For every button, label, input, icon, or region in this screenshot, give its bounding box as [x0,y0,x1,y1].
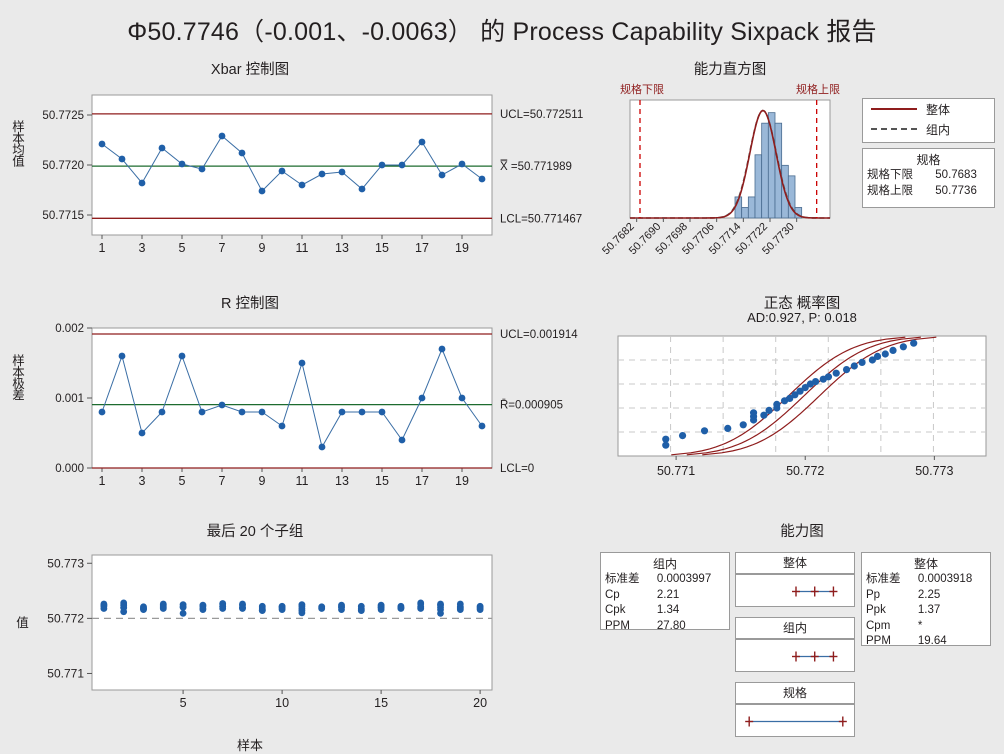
overall-sd-value: 0.0003918 [914,572,990,588]
table-row: Pp2.25 [862,588,990,604]
capability-histogram-title: 能力直方图 [600,58,860,79]
svg-text:9: 9 [259,241,266,255]
svg-text:5: 5 [179,241,186,255]
svg-text:17: 17 [415,241,429,255]
svg-text:11: 11 [296,241,309,255]
svg-text:20: 20 [473,696,487,710]
table-row: 标准差0.0003997 [601,572,729,588]
svg-text:15: 15 [374,696,388,710]
ppk-label: Ppk [862,603,914,619]
table-row: PPM19.64 [862,634,990,650]
svg-text:50.771: 50.771 [47,666,84,680]
svg-text:7: 7 [219,474,226,488]
spec-lsl-value: 50.7683 [931,168,994,184]
svg-text:3: 3 [139,474,146,488]
cpm-label: Cpm [862,619,914,635]
svg-text:1: 1 [99,241,106,255]
svg-text:50.7715: 50.7715 [42,210,84,222]
histogram-legend: 整体 组内 [862,98,995,143]
cpm-value: * [914,619,990,635]
within-ppm-label: PPM [601,619,653,635]
svg-text:0.000: 0.000 [55,463,84,475]
ppk-value: 1.37 [914,603,990,619]
capability-band-label: 整体 [783,556,807,570]
svg-text:0.001: 0.001 [55,393,84,405]
table-row: Cp2.21 [601,588,729,604]
svg-text:X̿ =50.771989: X̿ =50.771989 [500,160,572,173]
capability-histogram-panel: 能力直方图 规格下限 规格上限 50.768250.769050.769850.… [600,58,1004,283]
svg-text:50.7725: 50.7725 [42,110,84,122]
cp-value: 2.21 [653,588,729,604]
svg-text:1: 1 [99,474,106,488]
xbar-chart-panel: Xbar 控制图 样本均值 50.772550.772050.771513579… [0,58,600,273]
table-row: Ppk1.37 [862,603,990,619]
legend-label-within: 组内 [926,121,950,138]
overall-sd-label: 标准差 [862,572,914,588]
capability-band-label: 规格 [783,686,807,700]
spec-table: 规格 规格下限 50.7683 规格上限 50.7736 [862,148,995,208]
svg-text:5: 5 [179,474,186,488]
capability-histogram-plot: 50.768250.769050.769850.770650.771450.77… [600,94,860,269]
overall-table-header: 整体 [862,553,990,572]
within-table-header: 组内 [601,553,729,572]
svg-text:50.773: 50.773 [47,556,84,570]
svg-text:UCL=0.001914: UCL=0.001914 [500,329,578,341]
legend-label-overall: 整体 [926,101,950,118]
cpk-value: 1.34 [653,603,729,619]
spec-lsl-label: 规格下限 [863,168,931,184]
spec-table-header: 规格 [863,149,994,168]
svg-text:UCL=50.772511: UCL=50.772511 [500,109,583,121]
overall-ppm-label: PPM [862,634,914,650]
within-sd-value: 0.0003997 [653,572,729,588]
within-ppm-value: 27.80 [653,619,729,635]
svg-text:5: 5 [180,696,187,710]
pp-label: Pp [862,588,914,604]
overall-stats-table: 整体 标准差0.0003918 Pp2.25 Ppk1.37 Cpm* PPM1… [861,552,991,646]
capability-plot-panel: 能力图 组内 标准差0.0003997 Cp2.21 Cpk1.34 PPM27… [600,520,1004,751]
xbar-chart-plot: 50.772550.772050.7715135791113151719UCL=… [0,83,600,283]
overall-ppm-value: 19.64 [914,634,990,650]
table-row: 规格下限 50.7683 [863,168,994,184]
capability-bands: 整体组内规格 [735,552,855,747]
last20-chart-plot: 50.77350.77250.7715101520 [0,545,600,730]
svg-text:LCL=0: LCL=0 [500,463,534,475]
r-chart-panel: R 控制图 样本极差 0.0020.0010.00013579111315171… [0,292,600,502]
table-row: Cpm* [862,619,990,635]
legend-row-within: 组内 [863,119,994,139]
svg-text:10: 10 [275,696,289,710]
probability-plot-area: 50.77150.77250.773 [600,330,1004,500]
svg-text:11: 11 [296,474,309,488]
svg-text:7: 7 [219,241,226,255]
svg-text:13: 13 [335,474,349,488]
within-line-swatch [871,128,917,130]
page-title: Φ50.7746（-0.001、-0.0063） 的 Process Capab… [0,12,1004,48]
table-row: PPM27.80 [601,619,729,635]
svg-text:17: 17 [415,474,429,488]
svg-text:LCL=50.771467: LCL=50.771467 [500,213,582,225]
overall-line-swatch [871,108,917,110]
table-row: 规格上限 50.7736 [863,184,994,200]
svg-text:50.772: 50.772 [786,464,824,478]
svg-text:19: 19 [455,241,469,255]
table-row: 标准差0.0003918 [862,572,990,588]
last20-chart-panel: 最后 20 个子组 值 50.77350.77250.7715101520 样本 [0,520,600,751]
capability-band-interval-0 [735,574,855,607]
cpk-label: Cpk [601,603,653,619]
table-row: Cpk1.34 [601,603,729,619]
within-sd-label: 标准差 [601,572,653,588]
pp-value: 2.25 [914,588,990,604]
legend-row-overall: 整体 [863,99,994,119]
capability-plot-title: 能力图 [600,520,1004,541]
r-chart-title: R 控制图 [0,292,500,313]
svg-text:13: 13 [335,241,349,255]
svg-text:50.773: 50.773 [915,464,953,478]
probability-plot-subtitle: AD:0.927, P: 0.018 [600,310,1004,325]
svg-text:50.772: 50.772 [47,611,84,625]
last20-chart-title: 最后 20 个子组 [0,520,510,541]
spec-usl-value: 50.7736 [931,184,994,200]
xbar-chart-title: Xbar 控制图 [0,58,500,79]
svg-text:9: 9 [259,474,266,488]
svg-text:19: 19 [455,474,469,488]
svg-text:15: 15 [375,241,389,255]
r-chart-plot: 0.0020.0010.000135791113151719UCL=0.0019… [0,316,600,516]
svg-text:50.771: 50.771 [657,464,695,478]
svg-text:0.002: 0.002 [55,323,84,335]
cp-label: Cp [601,588,653,604]
svg-text:15: 15 [375,474,389,488]
within-stats-table: 组内 标准差0.0003997 Cp2.21 Cpk1.34 PPM27.80 [600,552,730,630]
last20-x-axis-label: 样本 [0,735,500,754]
svg-text:3: 3 [139,241,146,255]
probability-plot-panel: 正态 概率图 AD:0.927, P: 0.018 50.77150.77250… [600,292,1004,502]
capability-band-header-2: 规格 [735,682,855,704]
capability-band-interval-2 [735,704,855,737]
svg-text:R̄=0.000905: R̄=0.000905 [500,399,563,412]
capability-band-interval-1 [735,639,855,672]
svg-text:50.7720: 50.7720 [42,160,84,172]
spec-usl-label: 规格上限 [863,184,931,200]
capability-band-header-1: 组内 [735,617,855,639]
capability-band-header-0: 整体 [735,552,855,574]
capability-band-label: 组内 [783,621,807,635]
